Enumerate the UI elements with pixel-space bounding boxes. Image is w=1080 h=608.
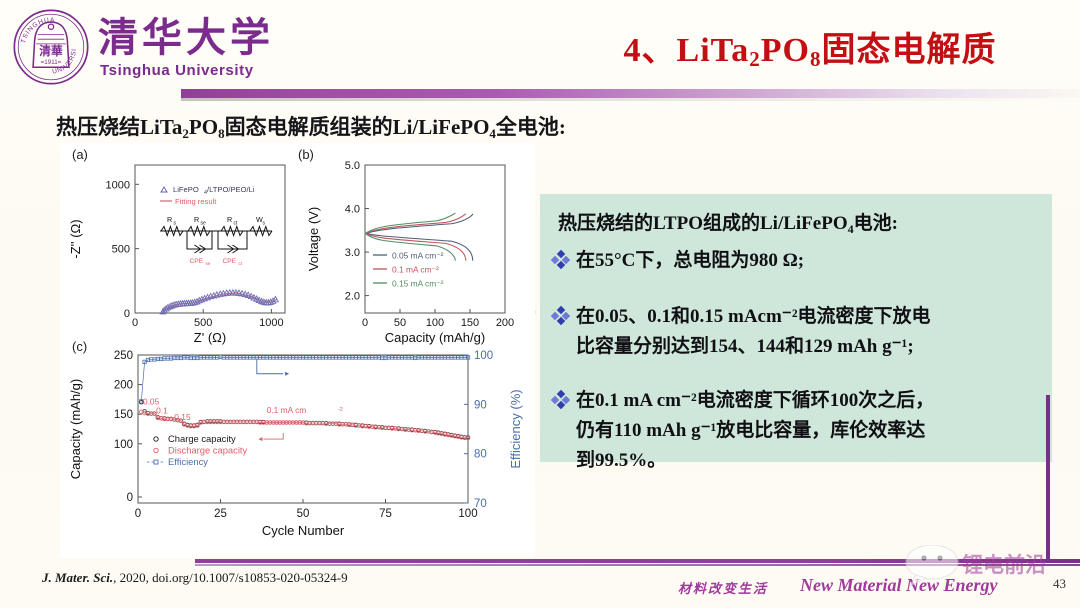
svg-text:0.1 mA cm: 0.1 mA cm	[267, 405, 307, 415]
svg-text:se: se	[206, 261, 211, 266]
svg-text:0.15: 0.15	[174, 412, 191, 422]
svg-text:Cycle Number: Cycle Number	[262, 523, 345, 538]
svg-text:ct: ct	[239, 261, 243, 266]
subtitle-sub2: 8	[218, 126, 225, 141]
svg-text:CPE: CPE	[190, 258, 204, 265]
summary-bullet-text: 在0.05、0.1和0.15 mAcm⁻²电流密度下放电比容量分别达到154、1…	[576, 302, 931, 362]
svg-text:100: 100	[114, 439, 133, 451]
reference-journal: J. Mater. Sci.	[42, 570, 113, 585]
summary-bullet: 在0.05、0.1和0.15 mAcm⁻²电流密度下放电比容量分别达到154、1…	[552, 302, 931, 362]
summary-bullet: 在55°C下，总电阻为980 Ω;	[552, 246, 804, 276]
header-divider	[181, 89, 1080, 98]
svg-text:4.0: 4.0	[345, 204, 360, 216]
svg-text:250: 250	[114, 350, 133, 362]
svg-text:Fitting result: Fitting result	[175, 197, 217, 206]
summary-heading-p2: 电池:	[854, 213, 898, 234]
university-name-cn: 清华大学	[98, 16, 274, 60]
page-title-mid: PO	[761, 32, 810, 69]
svg-text:0.15 mA cm⁻²: 0.15 mA cm⁻²	[392, 278, 444, 288]
svg-text:(b): (b)	[298, 147, 314, 162]
svg-text:1000: 1000	[259, 317, 283, 329]
subtitle-p2: PO	[189, 115, 218, 139]
svg-text:=1911=: =1911=	[41, 59, 62, 66]
svg-text:-Z'' (Ω): -Z'' (Ω)	[68, 219, 83, 258]
svg-text:CPE: CPE	[223, 258, 237, 265]
svg-text:0.05 mA cm⁻²: 0.05 mA cm⁻²	[392, 250, 444, 260]
wechat-badge-icon: 锂电前沿	[900, 545, 1070, 590]
subtitle-p1: 热压烧结LiTa	[56, 115, 182, 139]
svg-text:LiFePO: LiFePO	[173, 185, 199, 194]
header-divider-shadow	[181, 98, 1080, 101]
svg-text:0: 0	[132, 317, 138, 329]
svg-text:锂电前沿: 锂电前沿	[962, 553, 1046, 577]
svg-text:-2: -2	[338, 407, 343, 413]
page-title-prefix: 4、LiTa	[624, 32, 750, 69]
reference-citation: J. Mater. Sci., 2020, doi.org/10.1007/s1…	[42, 570, 348, 586]
summary-box: 热压烧结的LTPO组成的Li/LiFePO4电池: 在55°C下，总电阻为980…	[540, 194, 1052, 462]
subtitle-p4: 全电池:	[496, 115, 566, 139]
reference-rest: , 2020, doi.org/10.1007/s10853-020-05324…	[113, 570, 347, 585]
page-title-sub-2: 2	[749, 47, 761, 71]
right-accent-bar	[1046, 395, 1050, 560]
svg-text:50: 50	[297, 508, 310, 520]
figure-svg: (a)0500100005001000Z' (Ω)-Z'' (Ω)LiFePO4…	[60, 143, 535, 558]
svg-text:500: 500	[194, 317, 212, 329]
svg-text:500: 500	[112, 244, 130, 256]
svg-text:100: 100	[426, 317, 444, 329]
svg-text:Efficiency (%): Efficiency (%)	[508, 389, 523, 468]
svg-text:Voltage (V): Voltage (V)	[306, 207, 321, 271]
svg-text:Discharge capacity: Discharge capacity	[168, 445, 248, 456]
svg-text:Capacity (mAh/g): Capacity (mAh/g)	[385, 330, 485, 345]
svg-text:Efficiency: Efficiency	[168, 456, 208, 467]
svg-text:80: 80	[474, 449, 487, 461]
summary-bullet: 在0.1 mA cm⁻²电流密度下循环100次之后，仍有110 mAh g⁻¹放…	[552, 386, 934, 476]
svg-text:(c): (c)	[72, 339, 87, 354]
subtitle-sub1: 2	[182, 126, 189, 141]
summary-bullet-text: 在0.1 mA cm⁻²电流密度下循环100次之后，仍有110 mAh g⁻¹放…	[576, 386, 934, 476]
svg-text:150: 150	[461, 317, 479, 329]
svg-text:(a): (a)	[72, 147, 88, 162]
svg-text:150: 150	[114, 409, 133, 421]
svg-text:ct: ct	[234, 221, 239, 227]
svg-text:清華: 清華	[39, 44, 63, 58]
diamond-bullet-icon	[552, 391, 569, 408]
svg-text:200: 200	[496, 317, 514, 329]
svg-text:0: 0	[362, 317, 368, 329]
subtitle-sub3: 4	[489, 126, 496, 141]
summary-bullet-text: 在55°C下，总电阻为980 Ω;	[576, 246, 804, 276]
page-title: 4、LiTa2PO8固态电解质	[560, 22, 1060, 71]
svg-text:1000: 1000	[106, 179, 130, 191]
svg-text:0: 0	[124, 308, 130, 320]
svg-text:s: s	[263, 221, 266, 227]
page-title-suffix: 固态电解质	[821, 32, 996, 69]
svg-text:0.1 mA cm⁻²: 0.1 mA cm⁻²	[392, 264, 439, 274]
svg-text:Capacity (mAh/g): Capacity (mAh/g)	[68, 379, 83, 479]
svg-text:R: R	[227, 215, 232, 224]
svg-text:25: 25	[214, 508, 227, 520]
svg-text:Z' (Ω): Z' (Ω)	[194, 330, 226, 345]
svg-text:2.0: 2.0	[345, 291, 360, 303]
summary-heading: 热压烧结的LTPO组成的Li/LiFePO4电池:	[558, 208, 898, 235]
svg-text:3.0: 3.0	[345, 247, 360, 259]
diamond-bullet-icon	[552, 307, 569, 324]
figure-panel: (a)0500100005001000Z' (Ω)-Z'' (Ω)LiFePO4…	[60, 143, 535, 558]
svg-text:R: R	[167, 215, 172, 224]
svg-text:70: 70	[474, 498, 487, 510]
svg-text:75: 75	[379, 508, 392, 520]
svg-text:s: s	[174, 221, 177, 227]
section-subtitle: 热压烧结LiTa2PO8固态电解质组装的Li/LiFePO4全电池:	[56, 111, 566, 141]
svg-text:50: 50	[394, 317, 406, 329]
summary-heading-sub: 4	[848, 222, 854, 236]
svg-text:100: 100	[474, 350, 493, 362]
subtitle-p3: 固态电解质组装的Li/LiFePO	[225, 115, 490, 139]
slide-canvas: 清華 =1911= TSINGHUA UNIVERSITY 清华大学 Tsing…	[0, 0, 1080, 608]
slogan-cn: 材料改变生活	[678, 578, 768, 597]
svg-text:/LTPO/PEO/Li: /LTPO/PEO/Li	[207, 185, 255, 194]
svg-text:200: 200	[114, 380, 133, 392]
svg-text:5.0: 5.0	[345, 160, 360, 172]
svg-text:0.1: 0.1	[156, 406, 168, 416]
svg-text:R: R	[194, 215, 199, 224]
svg-text:0: 0	[127, 492, 133, 504]
summary-heading-p1: 热压烧结的LTPO组成的Li/LiFePO	[558, 213, 848, 234]
tsinghua-logo: 清華 =1911= TSINGHUA UNIVERSITY 清华大学 Tsing…	[12, 6, 282, 86]
tsinghua-seal-icon: 清華 =1911= TSINGHUA UNIVERSITY	[12, 8, 90, 86]
svg-text:0: 0	[135, 508, 141, 520]
diamond-bullet-icon	[552, 251, 569, 268]
page-title-sub-8: 8	[810, 47, 822, 71]
svg-text:se: se	[201, 221, 207, 227]
university-name-en: Tsinghua University	[100, 62, 254, 79]
svg-text:Charge capacity: Charge capacity	[168, 433, 236, 444]
svg-text:90: 90	[474, 399, 487, 411]
